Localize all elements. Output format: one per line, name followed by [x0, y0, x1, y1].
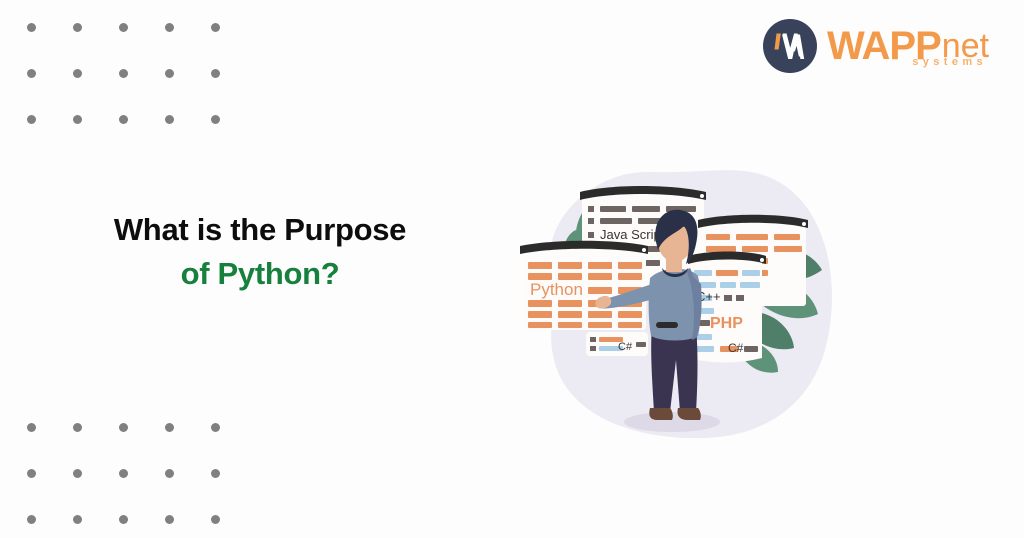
dot-cell — [54, 496, 100, 538]
decorative-dot — [165, 69, 174, 78]
javascript-panel-label: Java Script — [600, 227, 665, 242]
dot-cell — [192, 50, 238, 96]
dot-grid-top-left — [8, 4, 238, 142]
hero-illustration: Java Script — [500, 150, 850, 450]
decorative-dot — [73, 115, 82, 124]
decorative-dot — [73, 469, 82, 478]
page-title-line-1: What is the Purpose — [40, 208, 480, 252]
decorative-dot — [211, 469, 220, 478]
decorative-dot — [119, 23, 128, 32]
decorative-dot — [165, 515, 174, 524]
dot-cell — [146, 96, 192, 142]
dot-cell — [146, 50, 192, 96]
decorative-dot — [211, 23, 220, 32]
page-root: What is the Purpose of Python? WAPP net … — [0, 0, 1024, 538]
decorative-dot — [73, 23, 82, 32]
decorative-dot — [211, 69, 220, 78]
decorative-dot — [119, 515, 128, 524]
jacket-pocket — [656, 322, 678, 328]
illustration-svg: Java Script — [500, 150, 850, 450]
csharp-tag: C# — [586, 332, 648, 356]
brand-logo[interactable]: WAPP net systems — [762, 18, 989, 74]
decorative-dot — [211, 515, 220, 524]
dot-cell — [100, 50, 146, 96]
decorative-dot — [211, 423, 220, 432]
dot-cell — [100, 4, 146, 50]
decorative-dot — [119, 469, 128, 478]
dot-cell — [8, 404, 54, 450]
dot-cell — [8, 4, 54, 50]
shoe-left — [649, 408, 673, 420]
page-title-line-2: of Python? — [40, 252, 480, 296]
dot-cell — [54, 404, 100, 450]
decorative-dot — [27, 469, 36, 478]
dot-cell — [8, 96, 54, 142]
brand-tagline: systems — [912, 56, 987, 68]
decorative-dot — [165, 423, 174, 432]
decorative-dot — [165, 469, 174, 478]
python-panel-label: Python — [530, 280, 583, 299]
brand-wordmark: WAPP net systems — [827, 18, 989, 74]
decorative-dot — [27, 23, 36, 32]
dot-cell — [192, 450, 238, 496]
dot-cell — [100, 404, 146, 450]
dot-cell — [54, 450, 100, 496]
dot-grid-bottom-left — [8, 404, 238, 538]
dot-cell — [54, 96, 100, 142]
decorative-dot — [165, 23, 174, 32]
decorative-dot — [73, 69, 82, 78]
decorative-dot — [27, 115, 36, 124]
dot-cell — [192, 496, 238, 538]
dot-cell — [192, 4, 238, 50]
dot-cell — [54, 50, 100, 96]
decorative-dot — [119, 115, 128, 124]
python-panel: Python — [520, 241, 648, 330]
decorative-dot — [27, 515, 36, 524]
dot-cell — [146, 450, 192, 496]
wappnet-w-mark-icon — [762, 18, 818, 74]
decorative-dot — [27, 69, 36, 78]
csharp-tag-label: C# — [618, 341, 633, 353]
dot-cell — [100, 450, 146, 496]
dot-cell — [8, 496, 54, 538]
dot-cell — [146, 4, 192, 50]
decorative-dot — [73, 423, 82, 432]
decorative-dot — [27, 423, 36, 432]
decorative-dot — [119, 69, 128, 78]
page-title: What is the Purpose of Python? — [40, 208, 480, 296]
decorative-dot — [165, 115, 174, 124]
decorative-dot — [73, 515, 82, 524]
php-panel-label: PHP — [710, 315, 743, 332]
decorative-dot — [211, 115, 220, 124]
dot-cell — [100, 496, 146, 538]
csharp-panel-label: C# — [728, 341, 744, 355]
dot-cell — [192, 404, 238, 450]
dot-cell — [100, 96, 146, 142]
dot-cell — [192, 96, 238, 142]
dot-cell — [54, 4, 100, 50]
shoe-right — [677, 408, 700, 420]
dot-cell — [8, 50, 54, 96]
dot-cell — [146, 404, 192, 450]
decorative-dot — [119, 423, 128, 432]
dot-cell — [8, 450, 54, 496]
dot-cell — [146, 496, 192, 538]
